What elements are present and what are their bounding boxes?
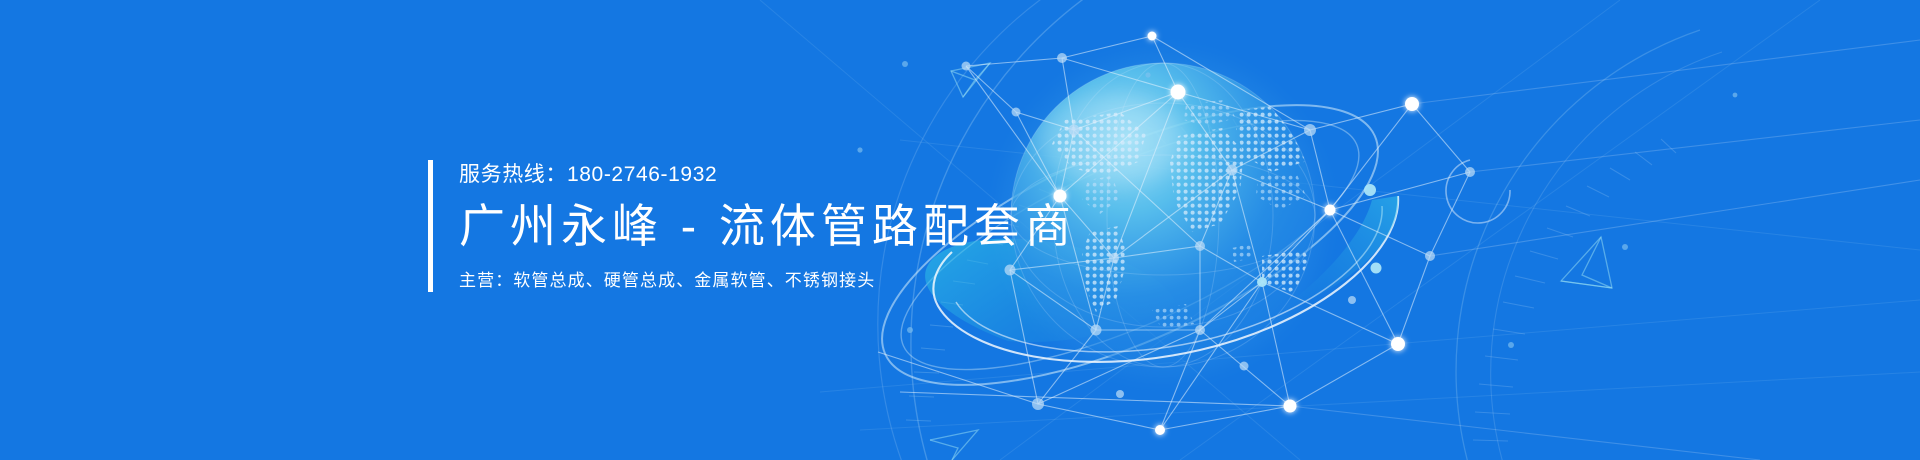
banner-text-block: 服务热线：180-2746-1932 广州永峰 - 流体管路配套商 主营：软管总…: [428, 160, 1076, 292]
service-hotline: 服务热线：180-2746-1932: [459, 162, 1076, 187]
page-title: 广州永峰 - 流体管路配套商: [459, 198, 1076, 256]
accent-bar: [428, 160, 433, 292]
product-list-subtitle: 主营：软管总成、硬管总成、金属软管、不锈钢接头: [459, 270, 1076, 292]
promo-banner: 服务热线：180-2746-1932 广州永峰 - 流体管路配套商 主营：软管总…: [0, 0, 1920, 460]
text-lines: 服务热线：180-2746-1932 广州永峰 - 流体管路配套商 主营：软管总…: [459, 160, 1076, 292]
dashed-arc-ring-right: [1446, 30, 1722, 460]
